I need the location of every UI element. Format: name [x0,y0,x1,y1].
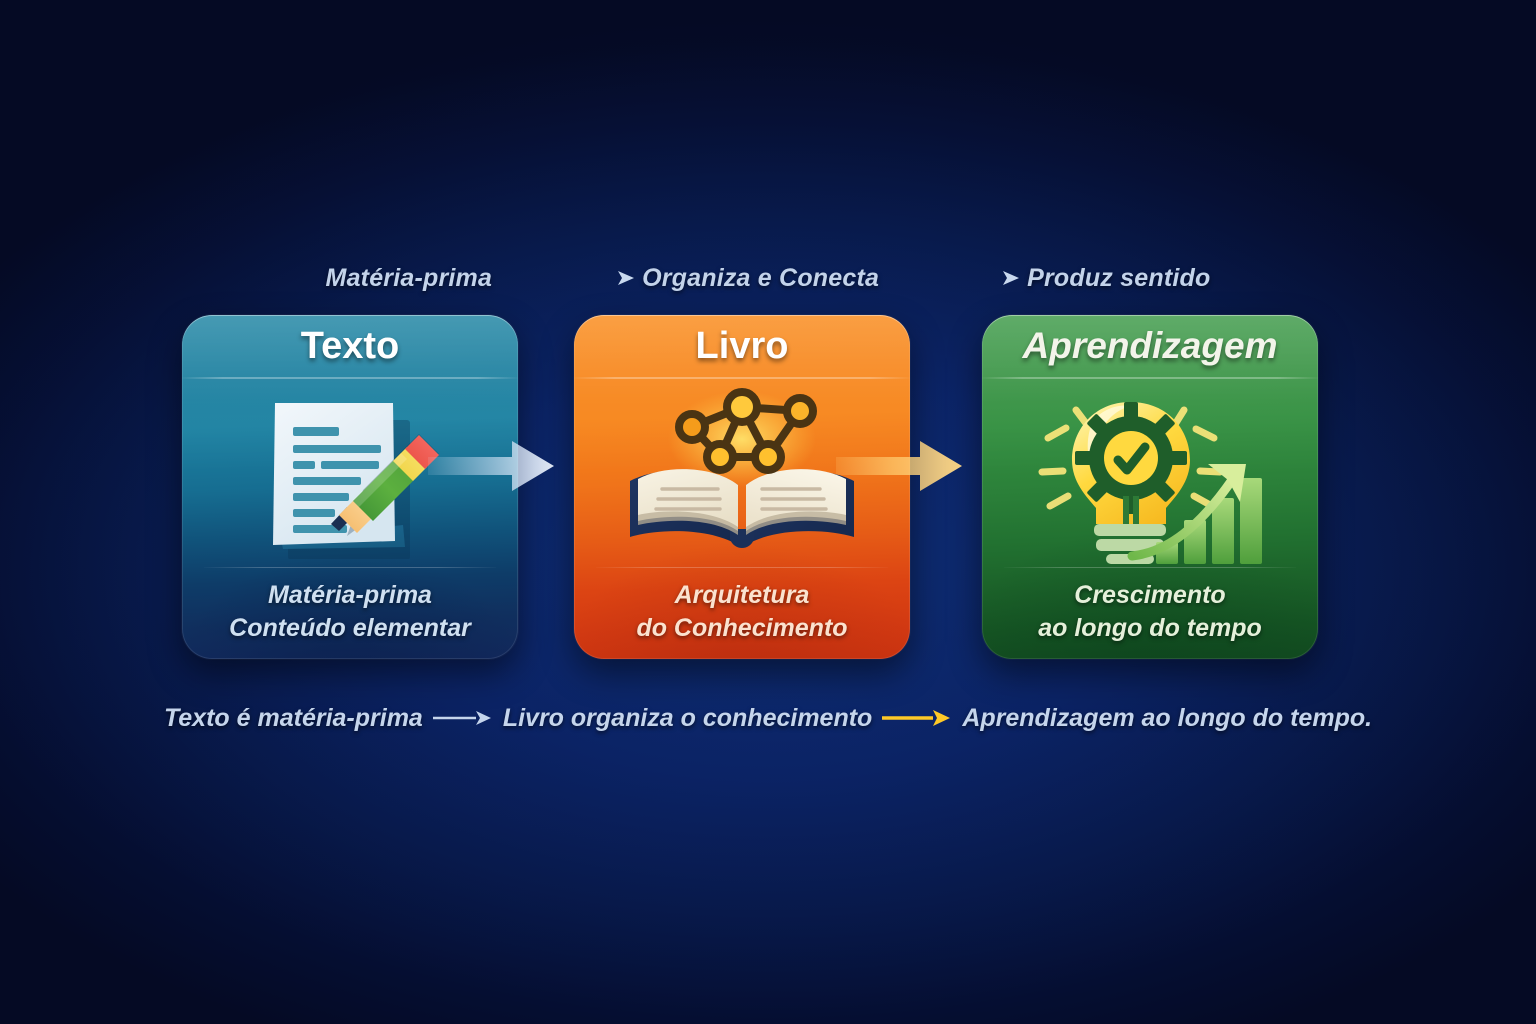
arrow-right-icon [881,707,953,729]
diagram-stage: Matéria-prima Organiza e Conecta [0,0,1536,1024]
card-texto-title: Texto [301,325,400,368]
card-aprendizagem[interactable]: Aprendizagem [982,315,1318,659]
open-book-with-network-icon [622,385,862,563]
card-livro-title: Livro [696,325,789,368]
card-aprendizagem-subtitle: Crescimento ao longo do tempo [992,573,1308,651]
card-texto-subtitle-line-2: Conteúdo elementar [229,614,471,643]
card-livro-subtitle-divider [596,567,888,568]
card-aprendizagem-subtitle-divider [1004,567,1296,568]
caption-segment-1: Texto é matéria-prima [164,704,423,733]
arrow-right-icon [492,267,642,289]
caption-segment-2: Livro organiza o conhecimento [503,704,873,733]
card-livro-header-divider [574,377,910,379]
card-texto-header: Texto [182,315,518,377]
card-livro-subtitle-line-2: do Conhecimento [636,614,847,643]
card-texto-subtitle: Matéria-prima Conteúdo elementar [192,573,508,651]
flow-label-row: Matéria-prima Organiza e Conecta [0,258,1536,298]
lightbulb-gear-growth-chart-icon [1032,384,1268,564]
card-livro-header: Livro [574,315,910,377]
card-aprendizagem-art [982,381,1318,567]
card-texto-subtitle-divider [204,567,496,568]
summary-caption: Texto é matéria-prima Livro organiza o c… [0,697,1536,739]
card-texto-subtitle-line-1: Matéria-prima [268,581,432,610]
card-livro-subtitle: Arquitetura do Conhecimento [584,573,900,651]
card-aprendizagem-header-divider [982,377,1318,379]
block-arrow-right-icon [428,433,558,499]
card-livro-subtitle-line-1: Arquitetura [675,581,810,610]
card-aprendizagem-subtitle-line-2: ao longo do tempo [1038,614,1262,643]
flow-label-organiza-conecta: Organiza e Conecta [642,264,879,293]
card-texto-header-divider [182,377,518,379]
arrow-right-icon [432,707,494,729]
card-aprendizagem-title: Aprendizagem [1023,325,1278,367]
flow-label-produz-sentido: Produz sentido [1027,264,1210,293]
block-arrow-right-icon [836,433,966,499]
arrow-right-icon [879,267,1027,289]
card-aprendizagem-header: Aprendizagem [982,315,1318,377]
document-with-pencil-icon [255,389,445,559]
card-aprendizagem-subtitle-line-1: Crescimento [1074,581,1225,610]
caption-segment-3: Aprendizagem ao longo do tempo. [962,704,1372,733]
flow-label-materia-prima: Matéria-prima [326,264,493,293]
